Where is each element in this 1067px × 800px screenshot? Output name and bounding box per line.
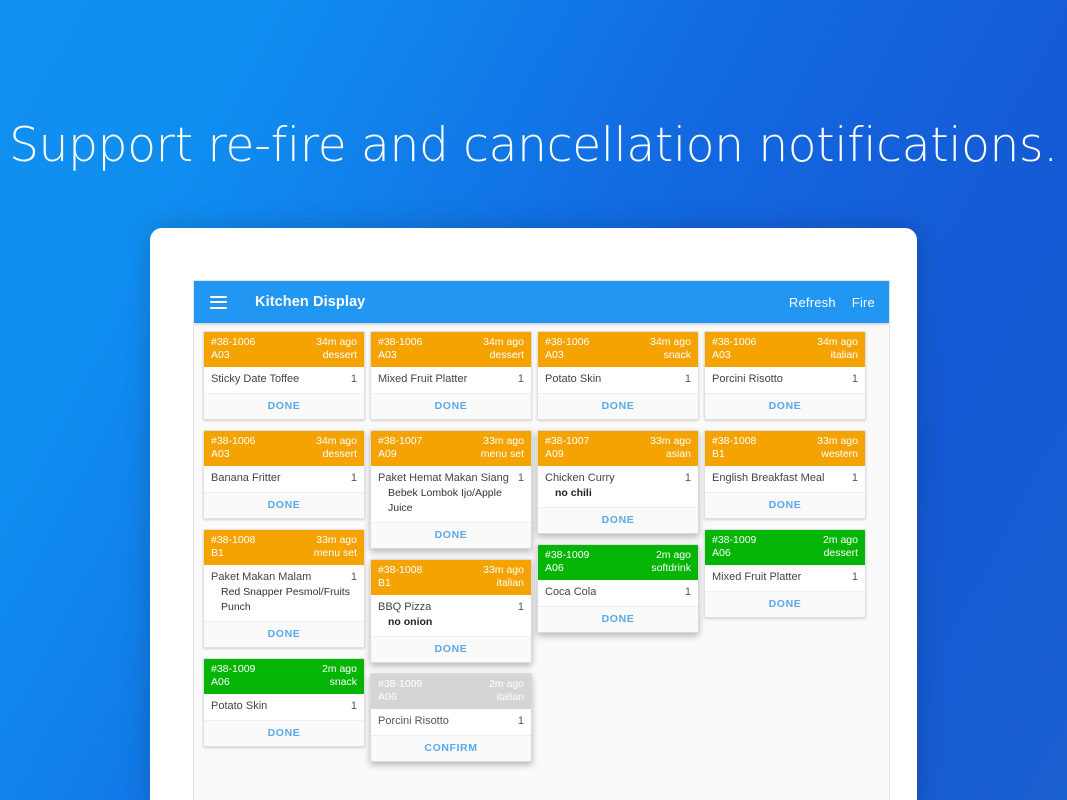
order-header-top-row: #38-10092m ago bbox=[545, 549, 691, 562]
page-title: Support re-fire and cancellation notific… bbox=[0, 118, 1067, 173]
order-card[interactable]: #38-100634m agoA03dessertBanana Fritter1… bbox=[203, 430, 365, 519]
order-category: menu set bbox=[481, 448, 524, 461]
order-card-header: #38-100634m agoA03dessert bbox=[204, 332, 364, 367]
order-item-name: Paket Makan Malam bbox=[211, 570, 317, 585]
order-item-subitem: Red Snapper Pesmol/Fruits Punch bbox=[211, 585, 357, 615]
order-item-quantity: 1 bbox=[685, 372, 691, 387]
order-header-bottom-row: B1western bbox=[712, 448, 858, 461]
order-header-bottom-row: B1menu set bbox=[211, 547, 357, 560]
order-header-top-row: #38-10092m ago bbox=[712, 534, 858, 547]
order-item-row: Coca Cola1 bbox=[545, 585, 691, 600]
order-category: italian bbox=[497, 691, 524, 704]
order-header-bottom-row: B1italian bbox=[378, 577, 524, 590]
order-item-name: Potato Skin bbox=[211, 699, 273, 714]
order-table-id: A03 bbox=[712, 349, 731, 362]
order-elapsed-time: 34m ago bbox=[483, 336, 524, 349]
order-card-items: BBQ Pizza1no onion bbox=[371, 595, 531, 636]
order-elapsed-time: 33m ago bbox=[817, 435, 858, 448]
order-card[interactable]: #38-100733m agoA09menu setPaket Hemat Ma… bbox=[370, 430, 532, 549]
order-category: italian bbox=[831, 349, 858, 362]
order-table-id: A09 bbox=[378, 448, 397, 461]
order-card[interactable]: #38-10092m agoA06snackPotato Skin1DONE bbox=[203, 658, 365, 747]
order-item-name: Chicken Curry bbox=[545, 471, 621, 486]
order-card-header: #38-100833m agoB1western bbox=[705, 431, 865, 466]
order-table-id: A03 bbox=[211, 349, 230, 362]
order-column: #38-100634m agoA03italianPorcini Risotto… bbox=[704, 331, 871, 772]
order-table-id: A06 bbox=[211, 676, 230, 689]
order-header-bottom-row: A03snack bbox=[545, 349, 691, 362]
order-header-bottom-row: A06snack bbox=[211, 676, 357, 689]
order-header-top-row: #38-100833m ago bbox=[378, 564, 524, 577]
order-card-items: Potato Skin1 bbox=[204, 694, 364, 720]
done-button[interactable]: DONE bbox=[538, 507, 698, 533]
order-category: menu set bbox=[314, 547, 357, 560]
order-number: #38-1008 bbox=[211, 534, 255, 547]
order-number: #38-1007 bbox=[378, 435, 422, 448]
order-header-bottom-row: A09menu set bbox=[378, 448, 524, 461]
order-card-header: #38-100634m agoA03italian bbox=[705, 332, 865, 367]
order-card-items: Mixed Fruit Platter1 bbox=[371, 367, 531, 393]
order-header-bottom-row: A09asian bbox=[545, 448, 691, 461]
done-button[interactable]: DONE bbox=[538, 393, 698, 419]
order-item-quantity: 1 bbox=[518, 471, 524, 486]
order-card-items: Chicken Curry1no chili bbox=[538, 466, 698, 507]
order-item-name: Coca Cola bbox=[545, 585, 602, 600]
order-category: dessert bbox=[824, 547, 858, 560]
order-header-top-row: #38-100634m ago bbox=[211, 435, 357, 448]
order-header-top-row: #38-10092m ago bbox=[378, 678, 524, 691]
order-card-header: #38-100833m agoB1italian bbox=[371, 560, 531, 595]
order-card-items: Paket Hemat Makan Siang1Bebek Lombok Ijo… bbox=[371, 466, 531, 522]
order-card-items: Sticky Date Toffee1 bbox=[204, 367, 364, 393]
done-button[interactable]: DONE bbox=[204, 720, 364, 746]
done-button[interactable]: DONE bbox=[371, 636, 531, 662]
order-category: dessert bbox=[323, 349, 357, 362]
order-number: #38-1007 bbox=[545, 435, 589, 448]
order-header-bottom-row: A06softdrink bbox=[545, 562, 691, 575]
app-screen: Kitchen Display Refresh Fire #38-100634m… bbox=[193, 280, 890, 800]
done-button[interactable]: DONE bbox=[705, 591, 865, 617]
done-button[interactable]: DONE bbox=[371, 393, 531, 419]
order-card[interactable]: #38-100634m agoA03snackPotato Skin1DONE bbox=[537, 331, 699, 420]
order-item-row: Mixed Fruit Platter1 bbox=[378, 372, 524, 387]
order-item-quantity: 1 bbox=[518, 372, 524, 387]
order-header-top-row: #38-100634m ago bbox=[712, 336, 858, 349]
order-item-name: Potato Skin bbox=[545, 372, 607, 387]
order-header-bottom-row: A03dessert bbox=[211, 349, 357, 362]
order-item-row: Potato Skin1 bbox=[211, 699, 357, 714]
order-item-row: Banana Fritter1 bbox=[211, 471, 357, 486]
order-item-name: English Breakfast Meal bbox=[712, 471, 831, 486]
order-card-items: Porcini Risotto1 bbox=[705, 367, 865, 393]
order-board: #38-100634m agoA03dessertSticky Date Tof… bbox=[194, 323, 889, 772]
order-elapsed-time: 33m ago bbox=[483, 435, 524, 448]
order-item-row: Mixed Fruit Platter1 bbox=[712, 570, 858, 585]
order-number: #38-1009 bbox=[545, 549, 589, 562]
order-card-header: #38-100634m agoA03snack bbox=[538, 332, 698, 367]
order-item-name: Banana Fritter bbox=[211, 471, 287, 486]
order-item-row: Porcini Risotto1 bbox=[712, 372, 858, 387]
order-category: snack bbox=[330, 676, 357, 689]
order-card-header: #38-100733m agoA09menu set bbox=[371, 431, 531, 466]
order-column: #38-100634m agoA03dessertMixed Fruit Pla… bbox=[370, 331, 537, 772]
order-card-header: #38-100634m agoA03dessert bbox=[204, 431, 364, 466]
order-item-row: Porcini Risotto1 bbox=[378, 714, 524, 729]
order-header-top-row: #38-100634m ago bbox=[378, 336, 524, 349]
order-table-id: A06 bbox=[545, 562, 564, 575]
order-elapsed-time: 33m ago bbox=[650, 435, 691, 448]
order-card[interactable]: #38-100733m agoA09asianChicken Curry1no … bbox=[537, 430, 699, 534]
order-item-quantity: 1 bbox=[351, 699, 357, 714]
order-elapsed-time: 34m ago bbox=[650, 336, 691, 349]
confirm-button[interactable]: CONFIRM bbox=[371, 735, 531, 761]
order-card-header: #38-10092m agoA06italian bbox=[371, 674, 531, 709]
order-elapsed-time: 2m ago bbox=[322, 663, 357, 676]
order-elapsed-time: 2m ago bbox=[489, 678, 524, 691]
order-card[interactable]: #38-100634m agoA03dessertSticky Date Tof… bbox=[203, 331, 365, 420]
order-header-top-row: #38-100634m ago bbox=[545, 336, 691, 349]
done-button[interactable]: DONE bbox=[371, 522, 531, 548]
order-category: softdrink bbox=[651, 562, 691, 575]
order-table-id: A03 bbox=[378, 349, 397, 362]
order-card-header: #38-10092m agoA06softdrink bbox=[538, 545, 698, 580]
order-item-quantity: 1 bbox=[685, 585, 691, 600]
order-card-header: #38-10092m agoA06dessert bbox=[705, 530, 865, 565]
order-header-top-row: #38-100833m ago bbox=[211, 534, 357, 547]
order-elapsed-time: 34m ago bbox=[817, 336, 858, 349]
order-number: #38-1008 bbox=[378, 564, 422, 577]
order-number: #38-1009 bbox=[211, 663, 255, 676]
order-card-header: #38-100833m agoB1menu set bbox=[204, 530, 364, 565]
order-card-items: Paket Makan Malam1Red Snapper Pesmol/Fru… bbox=[204, 565, 364, 621]
order-item-quantity: 1 bbox=[518, 714, 524, 729]
done-button[interactable]: DONE bbox=[204, 621, 364, 647]
done-button[interactable]: DONE bbox=[705, 393, 865, 419]
order-number: #38-1006 bbox=[211, 336, 255, 349]
order-category: italian bbox=[497, 577, 524, 590]
order-column: #38-100634m agoA03snackPotato Skin1DONE#… bbox=[537, 331, 704, 772]
order-card[interactable]: #38-100634m agoA03dessertMixed Fruit Pla… bbox=[370, 331, 532, 420]
order-category: snack bbox=[664, 349, 691, 362]
order-number: #38-1009 bbox=[712, 534, 756, 547]
order-item-row: Sticky Date Toffee1 bbox=[211, 372, 357, 387]
order-table-id: B1 bbox=[712, 448, 725, 461]
order-table-id: A06 bbox=[712, 547, 731, 560]
order-item-quantity: 1 bbox=[351, 570, 357, 585]
done-button[interactable]: DONE bbox=[705, 492, 865, 518]
done-button[interactable]: DONE bbox=[204, 393, 364, 419]
order-column: #38-100634m agoA03dessertSticky Date Tof… bbox=[203, 331, 370, 772]
order-item-name: Porcini Risotto bbox=[712, 372, 789, 387]
order-card[interactable]: #38-10092m agoA06italianPorcini Risotto1… bbox=[370, 673, 532, 762]
order-header-top-row: #38-100733m ago bbox=[378, 435, 524, 448]
order-table-id: A03 bbox=[545, 349, 564, 362]
order-item-quantity: 1 bbox=[852, 372, 858, 387]
order-category: western bbox=[821, 448, 858, 461]
tablet-device-frame: Kitchen Display Refresh Fire #38-100634m… bbox=[150, 228, 917, 800]
order-number: #38-1006 bbox=[712, 336, 756, 349]
order-card[interactable]: #38-100634m agoA03italianPorcini Risotto… bbox=[704, 331, 866, 420]
order-card-items: Coca Cola1 bbox=[538, 580, 698, 606]
order-card[interactable]: #38-100833m agoB1westernEnglish Breakfas… bbox=[704, 430, 866, 519]
done-button[interactable]: DONE bbox=[538, 606, 698, 632]
order-elapsed-time: 2m ago bbox=[823, 534, 858, 547]
order-item-quantity: 1 bbox=[685, 471, 691, 486]
order-card-items: English Breakfast Meal1 bbox=[705, 466, 865, 492]
order-header-top-row: #38-100634m ago bbox=[211, 336, 357, 349]
order-header-bottom-row: A06italian bbox=[378, 691, 524, 704]
order-header-top-row: #38-100833m ago bbox=[712, 435, 858, 448]
order-elapsed-time: 33m ago bbox=[316, 534, 357, 547]
order-number: #38-1006 bbox=[211, 435, 255, 448]
order-header-top-row: #38-100733m ago bbox=[545, 435, 691, 448]
order-item-note: no onion bbox=[378, 615, 524, 630]
order-table-id: A03 bbox=[211, 448, 230, 461]
order-card-header: #38-100733m agoA09asian bbox=[538, 431, 698, 466]
order-category: dessert bbox=[490, 349, 524, 362]
fire-button[interactable]: Fire bbox=[852, 295, 875, 310]
order-card[interactable]: #38-10092m agoA06dessertMixed Fruit Plat… bbox=[704, 529, 866, 618]
order-item-name: Paket Hemat Makan Siang bbox=[378, 471, 515, 486]
order-item-quantity: 1 bbox=[518, 600, 524, 615]
order-elapsed-time: 34m ago bbox=[316, 435, 357, 448]
order-number: #38-1006 bbox=[545, 336, 589, 349]
order-item-row: Chicken Curry1 bbox=[545, 471, 691, 486]
order-card[interactable]: #38-10092m agoA06softdrinkCoca Cola1DONE bbox=[537, 544, 699, 633]
order-header-bottom-row: A06dessert bbox=[712, 547, 858, 560]
order-header-top-row: #38-10092m ago bbox=[211, 663, 357, 676]
order-card-items: Banana Fritter1 bbox=[204, 466, 364, 492]
order-header-bottom-row: A03dessert bbox=[211, 448, 357, 461]
order-header-bottom-row: A03italian bbox=[712, 349, 858, 362]
order-category: asian bbox=[666, 448, 691, 461]
order-number: #38-1008 bbox=[712, 435, 756, 448]
done-button[interactable]: DONE bbox=[204, 492, 364, 518]
order-table-id: A09 bbox=[545, 448, 564, 461]
order-table-id: B1 bbox=[211, 547, 224, 560]
app-bar-title: Kitchen Display bbox=[255, 294, 365, 310]
order-number: #38-1006 bbox=[378, 336, 422, 349]
refresh-button[interactable]: Refresh bbox=[789, 295, 836, 310]
order-item-row: Paket Hemat Makan Siang1 bbox=[378, 471, 524, 486]
order-table-id: B1 bbox=[378, 577, 391, 590]
order-item-quantity: 1 bbox=[852, 471, 858, 486]
app-bar: Kitchen Display Refresh Fire bbox=[194, 281, 889, 323]
order-item-name: Porcini Risotto bbox=[378, 714, 455, 729]
order-card[interactable]: #38-100833m agoB1italianBBQ Pizza1no oni… bbox=[370, 559, 532, 663]
order-item-name: Sticky Date Toffee bbox=[211, 372, 305, 387]
order-item-note: no chili bbox=[545, 486, 691, 501]
order-header-bottom-row: A03dessert bbox=[378, 349, 524, 362]
order-item-quantity: 1 bbox=[351, 372, 357, 387]
order-elapsed-time: 2m ago bbox=[656, 549, 691, 562]
hamburger-menu-icon[interactable] bbox=[210, 296, 227, 309]
order-card-items: Porcini Risotto1 bbox=[371, 709, 531, 735]
order-item-row: BBQ Pizza1 bbox=[378, 600, 524, 615]
order-item-name: Mixed Fruit Platter bbox=[378, 372, 473, 387]
order-card-items: Potato Skin1 bbox=[538, 367, 698, 393]
order-card-items: Mixed Fruit Platter1 bbox=[705, 565, 865, 591]
order-item-row: Potato Skin1 bbox=[545, 372, 691, 387]
order-card-header: #38-100634m agoA03dessert bbox=[371, 332, 531, 367]
order-item-quantity: 1 bbox=[852, 570, 858, 585]
order-item-quantity: 1 bbox=[351, 471, 357, 486]
app-bar-actions: Refresh Fire bbox=[789, 295, 875, 310]
order-item-name: BBQ Pizza bbox=[378, 600, 437, 615]
order-item-row: English Breakfast Meal1 bbox=[712, 471, 858, 486]
order-elapsed-time: 33m ago bbox=[483, 564, 524, 577]
order-category: dessert bbox=[323, 448, 357, 461]
order-item-row: Paket Makan Malam1 bbox=[211, 570, 357, 585]
order-item-subitem: Bebek Lombok Ijo/Apple Juice bbox=[378, 486, 524, 516]
order-table-id: A06 bbox=[378, 691, 397, 704]
order-item-name: Mixed Fruit Platter bbox=[712, 570, 807, 585]
order-card-header: #38-10092m agoA06snack bbox=[204, 659, 364, 694]
order-number: #38-1009 bbox=[378, 678, 422, 691]
order-elapsed-time: 34m ago bbox=[316, 336, 357, 349]
order-card[interactable]: #38-100833m agoB1menu setPaket Makan Mal… bbox=[203, 529, 365, 648]
